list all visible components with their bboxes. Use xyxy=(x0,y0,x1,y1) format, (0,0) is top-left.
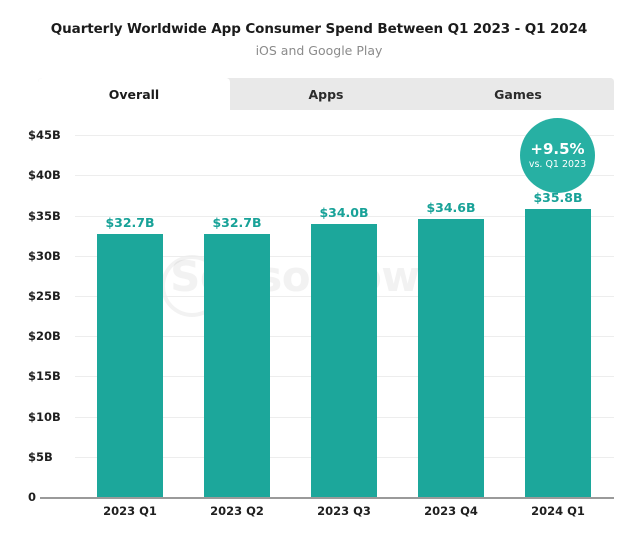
y-axis-tick-label: $40B xyxy=(28,168,72,182)
bar[interactable] xyxy=(97,234,163,497)
x-axis-line xyxy=(40,497,614,499)
x-axis-tick-label: 2023 Q3 xyxy=(317,504,371,518)
x-axis-tick-label: 2023 Q2 xyxy=(210,504,264,518)
bar-value-label: $32.7B xyxy=(105,215,154,230)
y-axis-tick-label: $45B xyxy=(28,128,72,142)
y-axis-tick-label: $20B xyxy=(28,329,72,343)
growth-badge-comparison: vs. Q1 2023 xyxy=(529,159,586,170)
bar[interactable] xyxy=(418,219,484,497)
y-axis-tick-label: $35B xyxy=(28,209,72,223)
y-axis-tick-label: $15B xyxy=(28,369,72,383)
y-axis-tick-label: $30B xyxy=(28,249,72,263)
x-axis-tick-label: 2023 Q4 xyxy=(424,504,478,518)
bar[interactable] xyxy=(525,209,591,497)
bar[interactable] xyxy=(204,234,270,497)
bar-value-label: $34.0B xyxy=(319,205,368,220)
y-axis-tick-label: $5B xyxy=(28,450,72,464)
x-axis-tick-label: 2024 Q1 xyxy=(531,504,585,518)
chart-plot-area: SensorTower $32.7B$32.7B$34.0B$34.6B$35.… xyxy=(0,0,638,552)
chart-page: Quarterly Worldwide App Consumer Spend B… xyxy=(0,0,638,552)
bar-value-label: $34.6B xyxy=(426,200,475,215)
growth-badge-value: +9.5% xyxy=(530,141,584,158)
bar[interactable] xyxy=(311,224,377,497)
y-axis-tick-label: $10B xyxy=(28,410,72,424)
y-axis-tick-label: 0 xyxy=(28,490,72,504)
x-axis-tick-label: 2023 Q1 xyxy=(103,504,157,518)
y-axis-tick-label: $25B xyxy=(28,289,72,303)
bar-value-label: $32.7B xyxy=(212,215,261,230)
growth-badge: +9.5% vs. Q1 2023 xyxy=(520,118,595,193)
